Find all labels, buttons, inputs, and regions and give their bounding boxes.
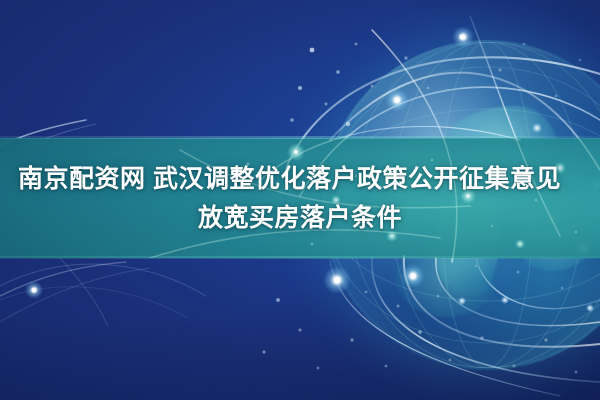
headline-line-2: 放宽买房落户条件 — [14, 199, 586, 238]
banner-headline: 南京配资网 武汉调整优化落户政策公开征集意见 放宽买房落户条件 — [0, 160, 600, 238]
news-banner: 南京配资网 武汉调整优化落户政策公开征集意见 放宽买房落户条件 — [0, 0, 600, 400]
headline-line-1: 南京配资网 武汉调整优化落户政策公开征集意见 — [14, 160, 586, 199]
